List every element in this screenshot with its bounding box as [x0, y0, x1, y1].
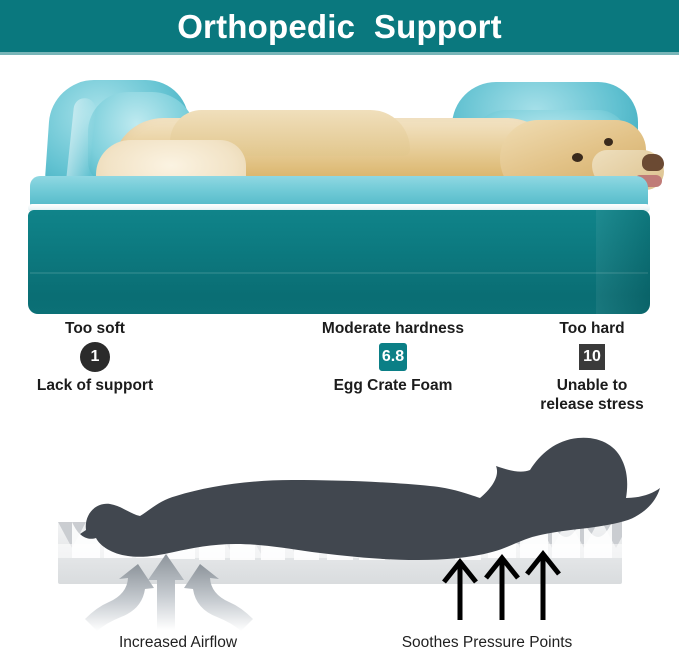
scale-stop-top-label: Too hard [502, 320, 679, 337]
scale-marker-1: 1 [80, 342, 110, 372]
product-photo [0, 58, 679, 320]
bed-base [28, 210, 650, 314]
dog-eye-right [604, 138, 613, 146]
scale-stop-bottom-label: Unable to release stress [502, 377, 679, 415]
caption-soothes-pressure-points: Soothes Pressure Points [366, 634, 608, 652]
hardness-scale: Too soft 1 Lack of support Moderate hard… [0, 320, 679, 420]
dog-eye-left [572, 153, 583, 162]
scale-stop-top-label: Too soft [5, 320, 185, 337]
scale-stop-bottom-label: Egg Crate Foam [303, 377, 483, 396]
scale-marker-row: 1 [5, 340, 185, 374]
pressure-arrows [444, 554, 559, 620]
scale-stop-too-soft: Too soft 1 Lack of support [5, 320, 185, 396]
foam-diagram [0, 418, 679, 660]
scale-marker-6-8: 6.8 [377, 341, 409, 373]
foam-captions: Increased Airflow Soothes Pressure Point… [0, 634, 679, 660]
page-title: Orthopedic Support [177, 10, 502, 43]
scale-stop-moderate: Moderate hardness 6.8 Egg Crate Foam [303, 320, 483, 396]
scale-stop-too-hard: Too hard 10 Unable to release stress [502, 320, 679, 415]
scale-stop-bottom-label: Lack of support [5, 377, 185, 396]
caption-increased-airflow: Increased Airflow [62, 634, 294, 652]
dog-nose [642, 154, 664, 171]
scale-marker-row: 6.8 [303, 340, 483, 374]
scale-stop-top-label: Moderate hardness [303, 320, 483, 337]
bed-base-fold [596, 210, 650, 314]
scale-marker-10: 10 [577, 342, 607, 372]
infographic-page: Orthopedic Support Too soft 1 Lac [0, 0, 679, 660]
header-banner: Orthopedic Support [0, 0, 679, 52]
scale-marker-row: 10 [502, 340, 679, 374]
header-underline [0, 52, 679, 55]
